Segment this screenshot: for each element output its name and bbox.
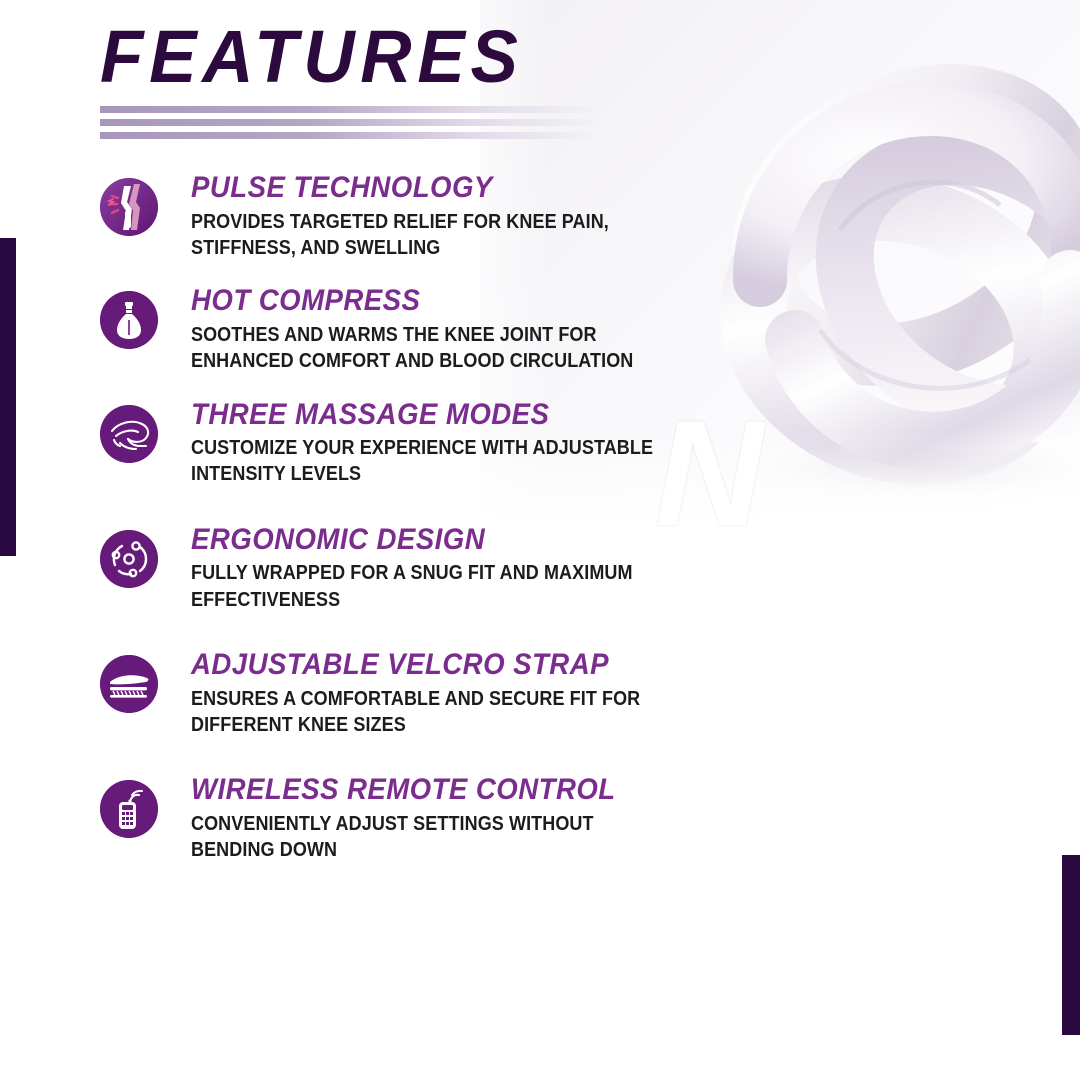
torus-knot-ornament [700,30,1080,500]
header: FEATURES [100,22,620,139]
velcro-strap-icon [100,655,158,713]
feature-body: THREE MASSAGE MODES CUSTOMIZE YOUR EXPER… [191,399,704,488]
massage-hand-icon [100,405,158,463]
feature-item: ERGONOMIC DESIGN FULLY WRAPPED FOR A SNU… [100,524,700,613]
ergonomic-nodes-icon [100,530,158,588]
feature-title: WIRELESS REMOTE CONTROL [191,774,659,806]
feature-item: WIRELESS REMOTE CONTROL CONVENIENTLY ADJ… [100,774,700,863]
remote-control-icon [100,780,158,838]
accent-bar-left [0,238,16,556]
feature-title: THREE MASSAGE MODES [191,399,663,431]
ornament-shadow [760,440,1080,500]
feature-item: ADJUSTABLE VELCRO STRAP ENSURES A COMFOR… [100,649,700,738]
title-underline-rules [100,106,600,139]
accent-bar-right [1062,855,1080,1035]
knee-joint-pulse-icon [100,178,158,236]
feature-title: HOT COMPRESS [191,285,659,317]
feature-description: CONVENIENTLY ADJUST SETTINGS WITHOUT BEN… [191,811,699,864]
feature-description-line: EFFECTIVENESS [191,587,699,613]
feature-body: WIRELESS REMOTE CONTROL CONVENIENTLY ADJ… [191,774,700,863]
feature-body: ERGONOMIC DESIGN FULLY WRAPPED FOR A SNU… [191,524,700,613]
title-rule [100,119,600,126]
feature-description: SOOTHES AND WARMS THE KNEE JOINT FOR ENH… [191,322,699,375]
feature-description-line: CONVENIENTLY ADJUST SETTINGS WITHOUT [191,811,699,837]
title-rule [100,106,600,113]
feature-body: ADJUSTABLE VELCRO STRAP ENSURES A COMFOR… [191,649,700,738]
feature-description-line: FULLY WRAPPED FOR A SNUG FIT AND MAXIMUM [191,560,699,586]
feature-body: HOT COMPRESS SOOTHES AND WARMS THE KNEE … [191,285,700,374]
feature-description-line: PROVIDES TARGETED RELIEF FOR KNEE PAIN, [191,209,699,235]
feature-title: PULSE TECHNOLOGY [191,172,659,204]
feature-title: ADJUSTABLE VELCRO STRAP [191,649,659,681]
feature-item: THREE MASSAGE MODES CUSTOMIZE YOUR EXPER… [100,399,700,488]
feature-title: ERGONOMIC DESIGN [191,524,659,556]
feature-description-line: SOOTHES AND WARMS THE KNEE JOINT FOR [191,322,699,348]
feature-description-line: ENSURES A COMFORTABLE AND SECURE FIT FOR [191,686,699,712]
feature-description: PROVIDES TARGETED RELIEF FOR KNEE PAIN, … [191,209,699,262]
page-title: FEATURES [100,22,599,92]
feature-description-line: BENDING DOWN [191,837,699,863]
feature-description-line: CUSTOMIZE YOUR EXPERIENCE WITH ADJUSTABL… [191,435,704,461]
feature-description-line: INTENSITY LEVELS [191,461,704,487]
feature-description: CUSTOMIZE YOUR EXPERIENCE WITH ADJUSTABL… [191,435,704,488]
feature-item: PULSE TECHNOLOGY PROVIDES TARGETED RELIE… [100,172,700,261]
feature-description-line: STIFFNESS, AND SWELLING [191,235,699,261]
title-rule [100,132,600,139]
feature-description-line: DIFFERENT KNEE SIZES [191,712,699,738]
feature-description-line: ENHANCED COMFORT AND BLOOD CIRCULATION [191,348,699,374]
feature-description: ENSURES A COMFORTABLE AND SECURE FIT FOR… [191,686,699,739]
feature-body: PULSE TECHNOLOGY PROVIDES TARGETED RELIE… [191,172,700,261]
features-list: PULSE TECHNOLOGY PROVIDES TARGETED RELIE… [100,172,700,888]
hot-water-bottle-icon [100,291,158,349]
feature-description: FULLY WRAPPED FOR A SNUG FIT AND MAXIMUM… [191,560,699,613]
feature-item: HOT COMPRESS SOOTHES AND WARMS THE KNEE … [100,285,700,374]
